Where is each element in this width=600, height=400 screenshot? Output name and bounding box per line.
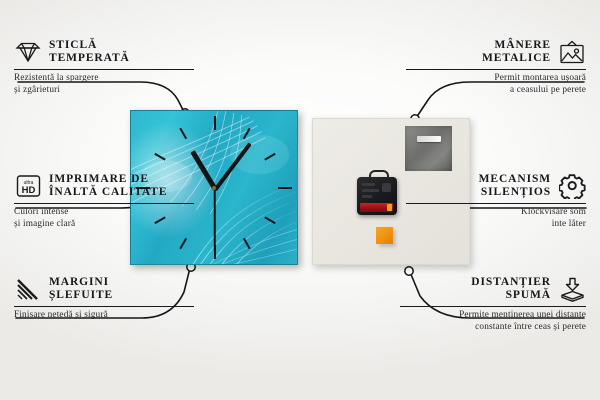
feature-header: DISTANȚIER SPUMĂ [400, 275, 586, 303]
diagonal-stripes-icon [14, 275, 42, 303]
gear-icon [558, 172, 586, 200]
picture-frame-hanger-icon [558, 38, 586, 66]
hour-marker [214, 116, 216, 130]
feature-rule [14, 306, 194, 307]
feature-header: MARGINI ȘLEFUITE [14, 275, 194, 303]
hour-marker [278, 187, 292, 189]
feature-title: MÂNERE METALICE [482, 39, 551, 66]
diamond-icon [14, 38, 42, 66]
feature-description: Culori intense și imagine clară [14, 207, 194, 230]
feature-description: Permit montarea ușoară a ceasului pe per… [406, 73, 586, 96]
feature-title: DISTANȚIER SPUMĂ [471, 276, 551, 303]
callout-dot-foam-spacer [405, 267, 413, 275]
mechanism-detail [362, 189, 379, 192]
feature-rule [406, 203, 586, 204]
feature-description: Klockvisare som inte låter [406, 207, 586, 230]
feature-header: MECANISM SILENȚIOS [406, 172, 586, 200]
feature-hd-print: ultra HD IMPRIMARE DE ÎNALTĂ CALITATE Cu… [14, 172, 194, 230]
feature-header: MÂNERE METALICE [406, 38, 586, 66]
feature-rule [400, 306, 586, 307]
metal-hanger [405, 126, 452, 171]
infographic-stage: STICLĂ TEMPERATĂ Rezistentă la spargere … [0, 0, 600, 400]
feature-silent-mechanism: MECANISM SILENȚIOS Klockvisare som inte … [406, 172, 586, 230]
feature-title: STICLĂ TEMPERATĂ [49, 39, 130, 66]
mechanism-detail [382, 183, 391, 192]
mechanism-hanging-loop [369, 170, 389, 182]
ultra-hd-badge-icon: ultra HD [14, 172, 42, 200]
foam-spacer-part [376, 227, 393, 244]
hanger-slot [417, 136, 441, 142]
feature-metal-handles: MÂNERE METALICE Permit montarea ușoară a… [406, 38, 586, 96]
feature-title: MECANISM SILENȚIOS [479, 173, 551, 200]
battery [360, 203, 393, 212]
feature-header: ultra HD IMPRIMARE DE ÎNALTĂ CALITATE [14, 172, 194, 200]
feature-rule [406, 69, 586, 70]
svg-text:HD: HD [21, 185, 35, 196]
clock-center-pin [212, 186, 216, 190]
feature-description: Rezistentă la spargere și zgârieturi [14, 73, 194, 96]
second-hand [214, 189, 216, 251]
feature-title: IMPRIMARE DE ÎNALTĂ CALITATE [49, 173, 167, 200]
mechanism-detail [362, 183, 375, 186]
feature-rule [14, 69, 194, 70]
arrow-on-layers-icon [558, 275, 586, 303]
feature-header: STICLĂ TEMPERATĂ [14, 38, 194, 66]
feature-title: MARGINI ȘLEFUITE [49, 276, 113, 303]
feature-foam-spacer: DISTANȚIER SPUMĂ Permite menținerea unei… [400, 275, 586, 333]
mechanism-detail [362, 195, 372, 198]
feature-description: Finisare netedă și sigură [14, 310, 194, 321]
feature-rule [14, 203, 194, 204]
feature-description: Permite menținerea unei distanțe constan… [400, 310, 586, 333]
clock-mechanism [357, 177, 397, 215]
feature-tempered-glass: STICLĂ TEMPERATĂ Rezistentă la spargere … [14, 38, 194, 96]
feature-polished-edges: MARGINI ȘLEFUITE Finisare netedă și sigu… [14, 275, 194, 322]
